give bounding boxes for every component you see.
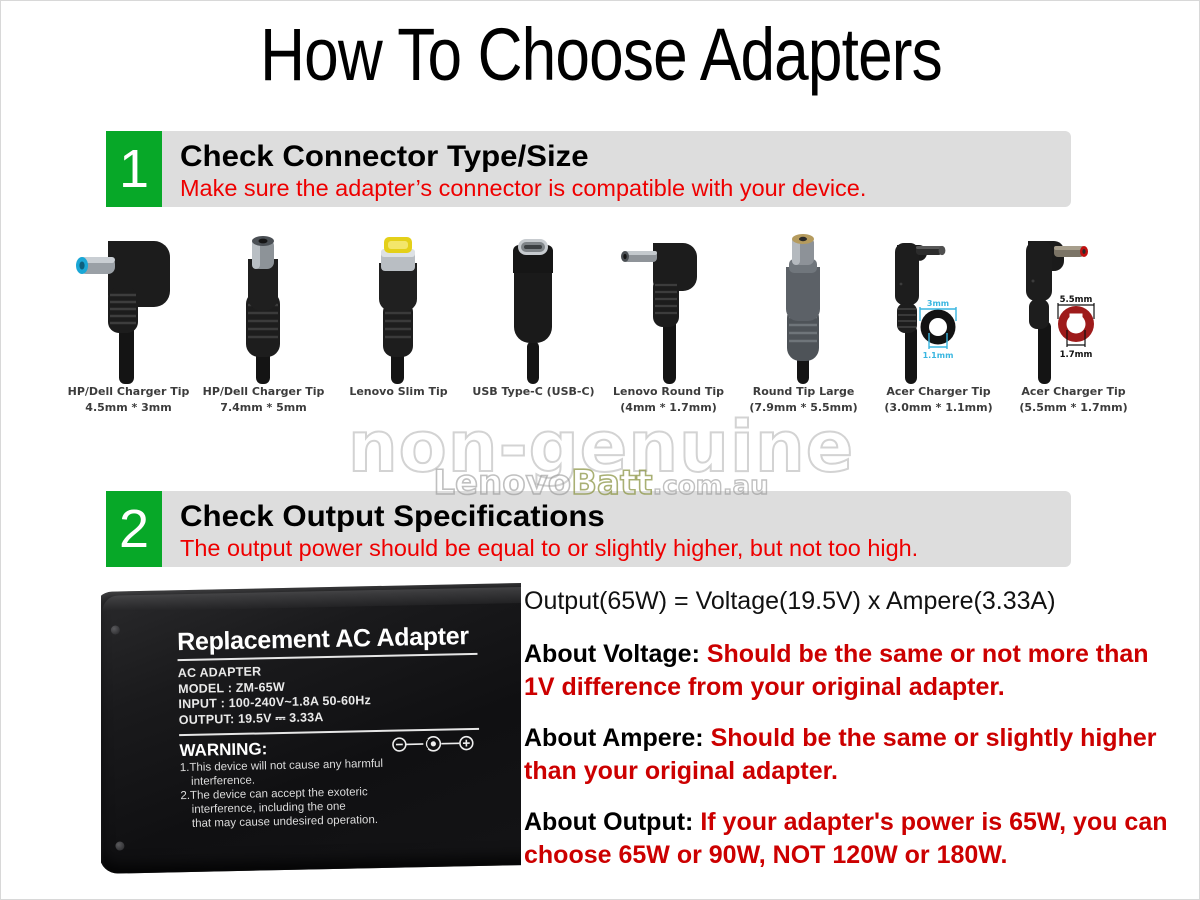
acer-55mm-tip-connector-icon: 5.5mm 1.7mm [1006,229,1141,384]
connector-item-lenovo-slim[interactable]: Lenovo Slim Tip [331,229,466,429]
connector-name: Round Tip Large [736,384,871,400]
step-2-subtitle: The output power should be equal to or s… [180,534,918,562]
round-tip-large-connector-icon [736,229,871,384]
step-2-badge: 2 [106,491,162,567]
step-2-title: Check Output Specifications [180,500,933,534]
connector-item-acer-30[interactable]: 3mm 1.1mm Acer Charger Tip (3.0mm * 1.1m… [871,229,1006,429]
connector-name: HP/Dell Charger Tip [61,384,196,400]
step-1-badge: 1 [106,131,162,207]
connector-item-round-large[interactable]: Round Tip Large (7.9mm * 5.5mm) [736,229,871,429]
output-spec-text: Output(65W) = Voltage(19.5V) x Ampere(3.… [524,586,1184,890]
ac-adapter-photo: Replacement AC Adapter AC ADAPTER MODEL … [101,579,521,879]
svg-text:1.1mm: 1.1mm [923,351,954,360]
spec-about-output: About Output: If your adapter's power is… [524,806,1184,872]
adapter-label: Replacement AC Adapter AC ADAPTER MODEL … [177,622,481,833]
step-1-title: Check Connector Type/Size [180,140,880,174]
connector-item-lenovo-round[interactable]: Lenovo Round Tip (4mm * 1.7mm) [601,229,736,429]
lenovo-round-tip-connector-icon [601,229,736,384]
connector-size: 7.4mm * 5mm [196,400,331,416]
step-2-text: Check Output Specifications The output p… [162,491,904,567]
acer-55mm-dimension-diagram: 5.5mm 1.7mm [1058,295,1094,360]
connector-size: (3.0mm * 1.1mm) [871,400,1006,416]
acer-3mm-dimension-diagram: 3mm 1.1mm [920,299,956,360]
lenovo-slim-tip-connector-icon [331,229,466,384]
connector-size: (7.9mm * 5.5mm) [736,400,871,416]
connector-name: Lenovo Round Tip [601,384,736,400]
connector-size: 4.5mm * 3mm [61,400,196,416]
connector-name: Acer Charger Tip [1006,384,1141,400]
adapter-screw-bottom-left [115,841,124,850]
page-title: How To Choose Adapters [97,15,1105,95]
connector-name: HP/Dell Charger Tip [196,384,331,400]
step-2-header: 2 Check Output Specifications The output… [106,491,1071,567]
svg-text:1.7mm: 1.7mm [1060,350,1093,360]
usb-type-c-connector-icon [466,229,601,384]
connector-size: (5.5mm * 1.7mm) [1006,400,1141,416]
connector-name: Lenovo Slim Tip [331,384,466,400]
connector-item-hp-74[interactable]: HP/Dell Charger Tip 7.4mm * 5mm [196,229,331,429]
center-positive-polarity-icon [391,734,475,754]
svg-text:3mm: 3mm [927,299,949,308]
adapter-screw-top-left [111,625,120,634]
connector-item-usbc[interactable]: USB Type-C (USB-C) [466,229,601,429]
step-1-text: Check Connector Type/Size Make sure the … [162,131,853,207]
hp-barrel-tip-connector-icon [196,229,331,384]
adapter-warning-body: 1.This device will not cause any harmful… [180,755,481,831]
acer-3mm-tip-connector-icon: 3mm 1.1mm [871,229,1006,384]
step-1-header: 1 Check Connector Type/Size Make sure th… [106,131,1071,207]
spec-key: About Voltage: [524,640,700,668]
spec-key: About Output: [524,808,693,836]
connector-name: Acer Charger Tip [871,384,1006,400]
output-formula: Output(65W) = Voltage(19.5V) x Ampere(3.… [524,586,1184,616]
connector-item-hp-45[interactable]: HP/Dell Charger Tip 4.5mm * 3mm [61,229,196,429]
spec-about-ampere: About Ampere: Should be the same or slig… [524,722,1184,788]
connector-name: USB Type-C (USB-C) [466,384,601,400]
step-1-subtitle: Make sure the adapter’s connector is com… [180,174,866,202]
connector-gallery: HP/Dell Charger Tip 4.5mm * 3mm HP/Dell … [61,229,1141,429]
spec-about-voltage: About Voltage: Should be the same or not… [524,638,1184,704]
svg-text:5.5mm: 5.5mm [1060,295,1093,305]
spec-key: About Ampere: [524,724,704,752]
connector-item-acer-55[interactable]: 5.5mm 1.7mm Acer Charger Tip (5.5mm * 1.… [1006,229,1141,429]
connector-size: (4mm * 1.7mm) [601,400,736,416]
adapter-brick-edge [102,586,521,611]
hp-blue-tip-connector-icon [61,229,196,384]
adapter-label-heading: Replacement AC Adapter [177,622,478,656]
